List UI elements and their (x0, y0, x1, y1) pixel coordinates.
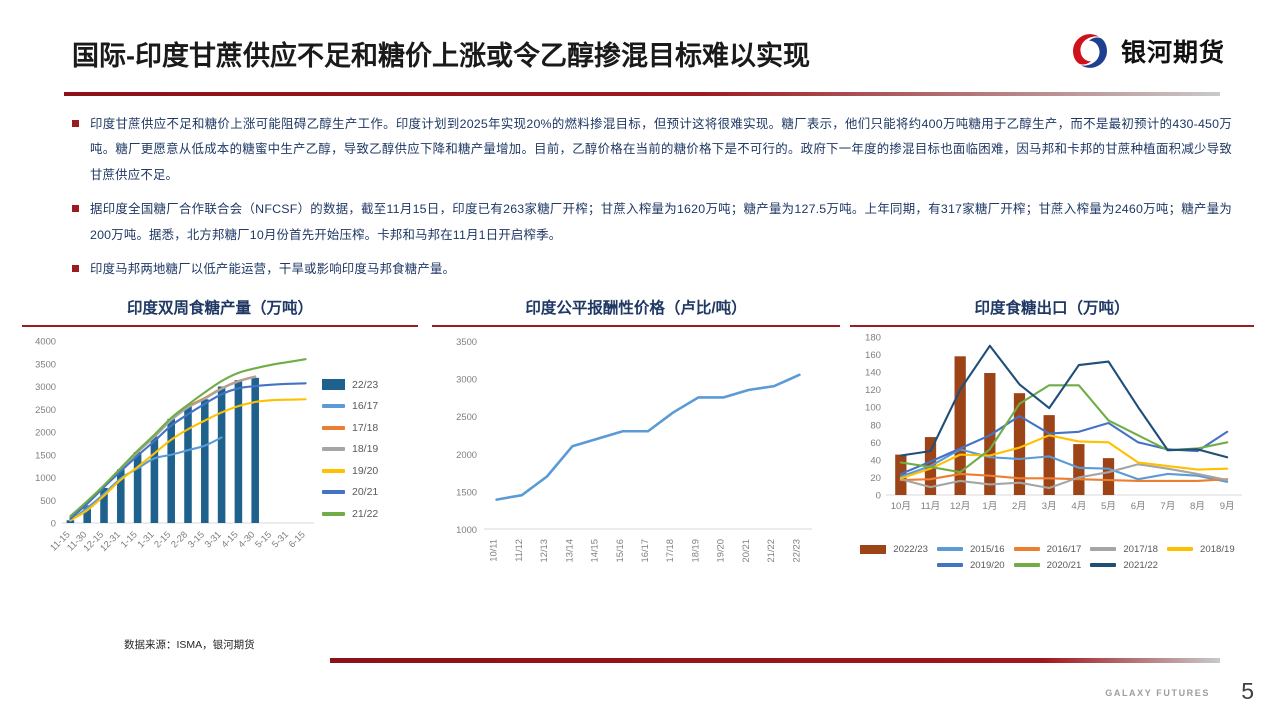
svg-text:4-30: 4-30 (236, 528, 257, 549)
legend-label: 2021/22 (1123, 560, 1158, 571)
legend-swatch-icon (322, 490, 345, 494)
bullet-square-icon (72, 205, 79, 212)
source-note: 数据来源：ISMA，银河期货 (124, 637, 255, 652)
legend-label: 2017/18 (1123, 544, 1158, 555)
svg-text:3000: 3000 (456, 373, 477, 384)
chart-svg-2: 10001500200025003000350010/1111/1212/131… (432, 327, 840, 607)
legend-swatch-icon (1014, 547, 1040, 551)
svg-text:20/21: 20/21 (740, 539, 751, 562)
footer-divider (330, 658, 1220, 663)
svg-text:180: 180 (865, 332, 881, 343)
legend-label: 22/23 (352, 379, 378, 391)
legend-label: 2020/21 (1047, 560, 1082, 571)
svg-text:3月: 3月 (1042, 501, 1057, 512)
svg-text:6-15: 6-15 (286, 528, 307, 549)
svg-text:15/16: 15/16 (614, 539, 625, 562)
chart-canvas-1: 0500100015002000250030003500400011-1511-… (22, 327, 418, 607)
chart-canvas-2: 10001500200025003000350010/1111/1212/131… (432, 327, 840, 607)
chart-panel-frp-price: 印度公平报酬性价格（卢比/吨） 100015002000250030003500… (432, 296, 840, 607)
footer-brand: GALAXY FUTURES (1105, 688, 1210, 698)
legend-item: 2019/20 (937, 560, 1005, 571)
legend-item: 2015/16 (937, 544, 1005, 555)
legend-swatch-icon (322, 379, 345, 390)
svg-text:10/11: 10/11 (488, 539, 499, 562)
svg-text:8月: 8月 (1190, 501, 1205, 512)
legend-label: 20/21 (352, 486, 378, 498)
galaxy-swirl-icon (1069, 30, 1111, 72)
svg-text:3500: 3500 (456, 336, 477, 347)
legend-label: 19/20 (352, 465, 378, 477)
svg-text:13/14: 13/14 (563, 539, 574, 562)
legend-swatch-icon (937, 547, 963, 551)
svg-text:140: 140 (865, 367, 881, 378)
legend-item: 19/20 (322, 465, 378, 477)
bullet-square-icon (72, 265, 79, 272)
svg-text:60: 60 (870, 437, 881, 448)
legend-label: 16/17 (352, 400, 378, 412)
chart-title: 印度双周食糖产量（万吨） (22, 296, 418, 325)
legend-item: 17/18 (322, 422, 378, 434)
svg-text:2000: 2000 (456, 448, 477, 459)
svg-text:120: 120 (865, 385, 881, 396)
chart-title: 印度食糖出口（万吨） (850, 296, 1254, 325)
svg-text:0: 0 (876, 490, 881, 501)
legend-item: 2016/17 (1014, 544, 1082, 555)
svg-text:12/13: 12/13 (538, 539, 549, 562)
chart-title: 印度公平报酬性价格（卢比/吨） (432, 296, 840, 325)
svg-text:1-31: 1-31 (135, 528, 156, 549)
legend-swatch-icon (322, 447, 345, 451)
slide: 国际-印度甘蔗供应不足和糖价上涨或令乙醇掺混目标难以实现 银河期货 印度甘蔗供应… (0, 0, 1280, 720)
svg-text:18/19: 18/19 (689, 539, 700, 562)
svg-text:0: 0 (51, 517, 56, 528)
slide-header: 国际-印度甘蔗供应不足和糖价上涨或令乙醇掺混目标难以实现 银河期货 (0, 0, 1280, 96)
legend-item: 2022/23 (860, 544, 928, 555)
legend-label: 2016/17 (1047, 544, 1082, 555)
legend-item: 22/23 (322, 379, 378, 391)
svg-text:5-15: 5-15 (252, 528, 273, 549)
svg-text:5月: 5月 (1101, 501, 1116, 512)
page-number: 5 (1241, 678, 1254, 705)
svg-text:1500: 1500 (35, 449, 56, 460)
svg-text:20: 20 (870, 473, 881, 484)
svg-text:1000: 1000 (456, 524, 477, 535)
svg-text:40: 40 (870, 455, 881, 466)
svg-text:11/12: 11/12 (513, 539, 524, 562)
svg-text:10月: 10月 (891, 501, 911, 512)
svg-text:2-15: 2-15 (152, 528, 173, 549)
svg-text:16/17: 16/17 (639, 539, 650, 562)
svg-text:2500: 2500 (35, 403, 56, 414)
header-divider (64, 92, 1220, 96)
svg-text:1000: 1000 (35, 472, 56, 483)
svg-text:14/15: 14/15 (589, 539, 600, 562)
body-bullets: 印度甘蔗供应不足和糖价上涨可能阻碍乙醇生产工作。印度计划到2025年实现20%的… (72, 112, 1232, 292)
legend-item: 20/21 (322, 486, 378, 498)
bullet-text: 印度甘蔗供应不足和糖价上涨可能阻碍乙醇生产工作。印度计划到2025年实现20%的… (90, 112, 1232, 188)
brand-logo: 银河期货 (1069, 30, 1225, 72)
legend-label: 21/22 (352, 508, 378, 520)
chart-legend-3: 2022/232015/162016/172017/182018/192019/… (850, 544, 1254, 576)
svg-text:2-28: 2-28 (168, 528, 189, 549)
legend-swatch-icon (1014, 563, 1040, 567)
svg-text:19/20: 19/20 (715, 539, 726, 562)
bullet-text: 印度马邦两地糖厂以低产能运营，干旱或影响印度马邦食糖产量。 (90, 257, 455, 282)
svg-text:11月: 11月 (921, 501, 941, 512)
svg-text:2000: 2000 (35, 426, 56, 437)
svg-text:4-15: 4-15 (219, 528, 240, 549)
legend-item: 2021/22 (1090, 560, 1158, 571)
page-title: 国际-印度甘蔗供应不足和糖价上涨或令乙醇掺混目标难以实现 (72, 34, 810, 73)
svg-text:80: 80 (870, 420, 881, 431)
legend-label: 2022/23 (893, 544, 928, 555)
bullet-square-icon (72, 120, 79, 127)
legend-swatch-icon (322, 469, 345, 473)
svg-text:7月: 7月 (1160, 501, 1175, 512)
legend-swatch-icon (322, 404, 345, 408)
svg-text:3-15: 3-15 (185, 528, 206, 549)
legend-item: 2017/18 (1090, 544, 1158, 555)
chart-panel-sugar-production: 印度双周食糖产量（万吨） 050010001500200025003000350… (22, 296, 418, 607)
legend-swatch-icon (322, 426, 345, 430)
legend-swatch-icon (937, 563, 963, 567)
svg-text:1月: 1月 (982, 501, 997, 512)
legend-label: 18/19 (352, 443, 378, 455)
svg-text:2500: 2500 (456, 411, 477, 422)
svg-text:3500: 3500 (35, 358, 56, 369)
svg-text:17/18: 17/18 (664, 539, 675, 562)
legend-label: 17/18 (352, 422, 378, 434)
svg-text:100: 100 (865, 402, 881, 413)
legend-swatch-icon (322, 512, 345, 516)
svg-text:4月: 4月 (1071, 501, 1086, 512)
chart-svg-3: 02040608010012014016018010月11月12月1月2月3月4… (850, 327, 1254, 542)
legend-label: 2019/20 (970, 560, 1005, 571)
legend-item: 21/22 (322, 508, 378, 520)
legend-item: 2018/19 (1167, 544, 1235, 555)
svg-text:160: 160 (865, 350, 881, 361)
bullet-item: 据印度全国糖厂合作联合会（NFCSF）的数据，截至11月15日，印度已有263家… (72, 197, 1232, 248)
bullet-text: 据印度全国糖厂合作联合会（NFCSF）的数据，截至11月15日，印度已有263家… (90, 197, 1232, 248)
svg-text:5-31: 5-31 (269, 528, 290, 549)
svg-text:3000: 3000 (35, 381, 56, 392)
legend-item: 2020/21 (1014, 560, 1082, 571)
svg-text:1500: 1500 (456, 486, 477, 497)
svg-text:9月: 9月 (1220, 501, 1235, 512)
brand-logo-text: 银河期货 (1121, 33, 1225, 69)
svg-text:1-15: 1-15 (118, 528, 139, 549)
bullet-item: 印度马邦两地糖厂以低产能运营，干旱或影响印度马邦食糖产量。 (72, 257, 1232, 282)
svg-text:6月: 6月 (1131, 501, 1146, 512)
legend-swatch-icon (860, 545, 886, 554)
legend-swatch-icon (1090, 563, 1116, 567)
svg-text:22/23: 22/23 (790, 539, 801, 562)
chart-canvas-3: 02040608010012014016018010月11月12月1月2月3月4… (850, 327, 1254, 576)
chart-legend-1: 22/2316/1717/1818/1919/2020/2121/22 (322, 379, 378, 530)
legend-label: 2018/19 (1200, 544, 1235, 555)
legend-label: 2015/16 (970, 544, 1005, 555)
legend-item: 16/17 (322, 400, 378, 412)
legend-swatch-icon (1167, 547, 1193, 551)
svg-text:500: 500 (40, 494, 56, 505)
svg-text:21/22: 21/22 (765, 539, 776, 562)
svg-text:3-31: 3-31 (202, 528, 223, 549)
bullet-item: 印度甘蔗供应不足和糖价上涨可能阻碍乙醇生产工作。印度计划到2025年实现20%的… (72, 112, 1232, 188)
svg-text:2月: 2月 (1012, 501, 1027, 512)
svg-text:12月: 12月 (950, 501, 970, 512)
legend-item: 18/19 (322, 443, 378, 455)
legend-swatch-icon (1090, 547, 1116, 551)
svg-text:4000: 4000 (35, 335, 56, 346)
chart-panel-sugar-export: 印度食糖出口（万吨） 02040608010012014016018010月11… (850, 296, 1254, 576)
